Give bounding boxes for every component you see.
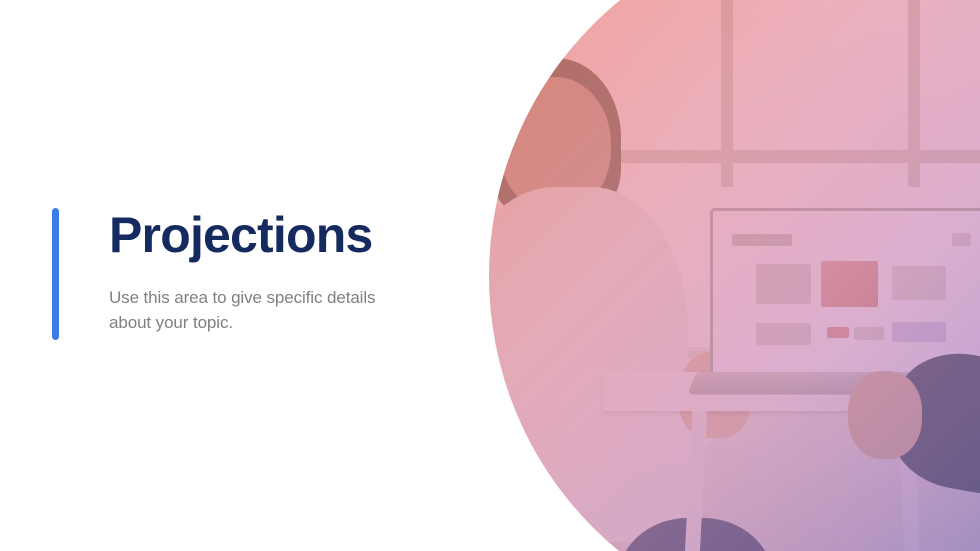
slide-text-column: Projections Use this area to give specif… <box>109 208 379 340</box>
slide-subtitle: Use this area to give specific details a… <box>109 286 379 335</box>
presentation-slide: Projections Use this area to give specif… <box>0 0 980 551</box>
accent-bar <box>52 208 59 340</box>
hero-photo-circle <box>489 0 980 551</box>
slide-text-block: Projections Use this area to give specif… <box>52 208 472 340</box>
photo-gradient-tint <box>489 0 980 551</box>
page-title: Projections <box>109 210 379 260</box>
